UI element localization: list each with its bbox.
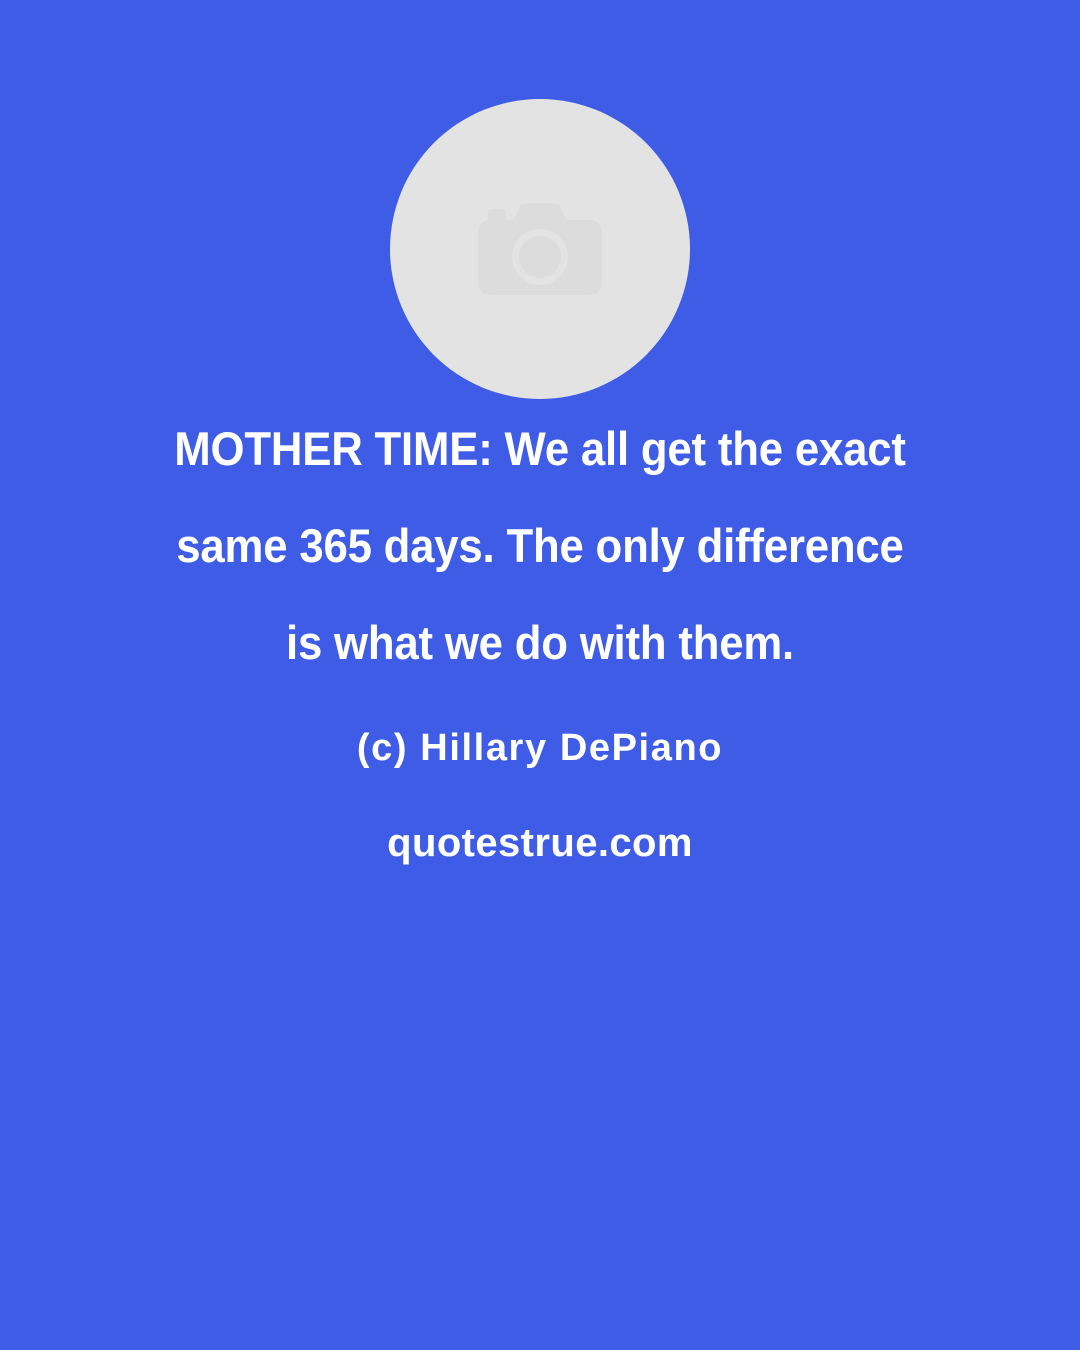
quote-content: MOTHER TIME: We all get the exact same 3… [0, 400, 1080, 863]
quote-author: (c) Hillary DePiano [0, 691, 1080, 767]
avatar-placeholder-container [0, 98, 1080, 400]
quote-line: MOTHER TIME: We all get the exact [112, 400, 968, 497]
avatar [390, 99, 690, 399]
quote-text: MOTHER TIME: We all get the exact same 3… [38, 400, 1042, 691]
quote-card: MOTHER TIME: We all get the exact same 3… [0, 0, 1080, 1350]
camera-icon [478, 203, 602, 295]
quote-line: is what we do with them. [112, 594, 968, 691]
website-label: quotestrue.com [0, 767, 1080, 863]
quote-line: same 365 days. The only difference [112, 497, 968, 594]
